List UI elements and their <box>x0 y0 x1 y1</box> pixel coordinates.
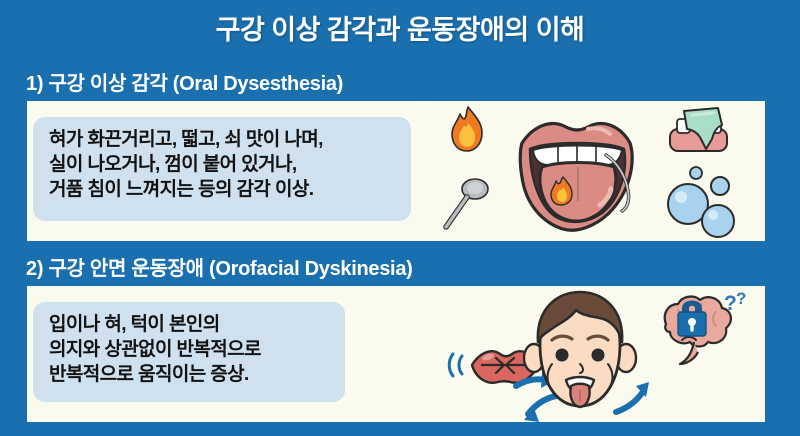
section-2-line-3: 반복적으로 움직이는 증상. <box>49 362 329 387</box>
infographic-root: 구강 이상 감각과 운동장애의 이해 1) 구강 이상 감각 (Oral Dys… <box>0 0 800 436</box>
svg-text:?: ? <box>736 289 746 308</box>
orofacial-dyskinesia-illustration: ? ? <box>430 286 765 422</box>
svg-text:?: ? <box>724 292 737 315</box>
section-tab-2-label: 2) 구강 안면 운동장애 (Orofacial Dyskinesia) <box>26 252 413 281</box>
section-2-line-1: 입이나 혀, 턱이 본인의 <box>49 312 329 337</box>
face-tongue-out-icon <box>524 292 636 407</box>
section-2-textbox: 입이나 혀, 턱이 본인의 의지와 상관없이 반복적으로 반복적으로 움직이는 … <box>33 302 345 402</box>
title-bar: 구강 이상 감각과 운동장애의 이해 <box>0 0 800 54</box>
section-tab-1: 1) 구강 이상 감각 (Oral Dysesthesia) <box>0 62 434 100</box>
oral-dysesthesia-illustration <box>430 101 765 241</box>
chewing-gum-on-teeth-icon <box>670 108 727 151</box>
page-title: 구강 이상 감각과 운동장애의 이해 <box>216 8 585 47</box>
flame-icon <box>452 107 482 151</box>
section-1-line-3: 거품 침이 느껴지는 등의 감각 이상. <box>49 177 395 202</box>
brain-locked-icon: ? ? <box>665 289 747 364</box>
section-1-textbox: 혀가 화끈거리고, 떫고, 쇠 맛이 나며, 실이 나오거나, 껌이 붙어 있거… <box>33 117 411 221</box>
vibration-lines-icon <box>449 354 462 376</box>
foam-bubbles-icon <box>668 167 734 237</box>
question-marks-icon: ? ? <box>724 289 746 315</box>
section-tab-1-label: 1) 구강 이상 감각 (Oral Dysesthesia) <box>26 67 343 96</box>
section-1-line-2: 실이 나오거나, 껌이 붙어 있거나, <box>49 152 395 177</box>
section-2-line-2: 의지와 상관없이 반복적으로 <box>49 337 329 362</box>
spoon-icon <box>446 179 488 227</box>
section-tab-2: 2) 구강 안면 운동장애 (Orofacial Dyskinesia) <box>0 247 516 285</box>
open-mouth-tongue-icon <box>520 124 632 231</box>
section-1-line-1: 혀가 화끈거리고, 떫고, 쇠 맛이 나며, <box>49 127 395 152</box>
